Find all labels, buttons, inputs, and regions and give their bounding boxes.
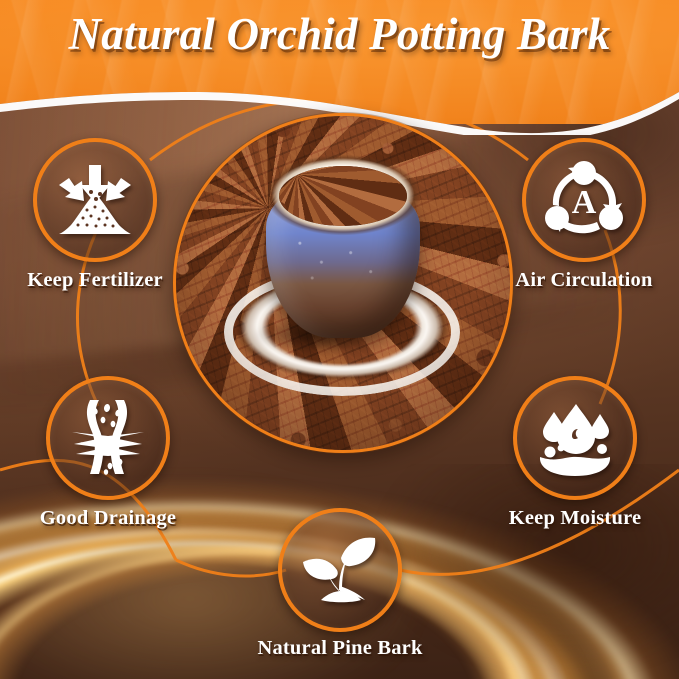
infographic-canvas: Natural Orchid Potting Bark (0, 0, 679, 679)
feature-circle (278, 508, 402, 632)
seedling-sprout-icon (297, 534, 383, 606)
feature-label: Keep Fertilizer (27, 269, 163, 292)
droplets-in-basin-icon (532, 400, 618, 476)
feature-good-drainage[interactable]: Good Drainage (46, 376, 170, 500)
feature-label: Air Circulation (515, 269, 652, 292)
feature-circle (33, 138, 157, 262)
feature-label: Good Drainage (40, 507, 176, 530)
photo-vignette (176, 116, 510, 450)
feature-circle (513, 376, 637, 500)
page-title: Natural Orchid Potting Bark (0, 12, 679, 57)
feature-circle: A (522, 138, 646, 262)
feature-keep-fertilizer[interactable]: Keep Fertilizer (33, 138, 157, 262)
feature-label: Natural Pine Bark (257, 637, 422, 660)
feature-circle (46, 376, 170, 500)
feature-label: Keep Moisture (509, 507, 642, 530)
circulation-cycle-a-icon: A (543, 160, 625, 240)
feature-natural-pine-bark[interactable]: Natural Pine Bark (278, 508, 402, 632)
product-photo (173, 113, 513, 453)
feature-keep-moisture[interactable]: Keep Moisture (513, 376, 637, 500)
feature-air-circulation[interactable]: A Air Circulation (522, 138, 646, 262)
svg-text:A: A (572, 184, 597, 221)
product-photo-inner (176, 116, 510, 450)
water-through-layers-icon (66, 398, 150, 478)
arrows-into-mound-icon (53, 163, 137, 237)
